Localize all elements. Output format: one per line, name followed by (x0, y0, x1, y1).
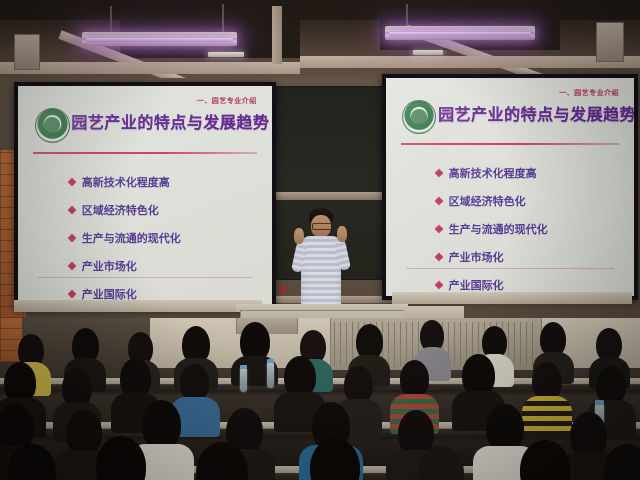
bullet-text: 生产与流通的现代化 (82, 230, 181, 246)
left-projection-screen[interactable]: 一、园艺专业介绍 园艺产业的特点与发展趋势 高新技术化程度高 区域经济特色化 生… (14, 82, 276, 309)
wall-speaker-right (596, 22, 624, 62)
hanging-wire-left2 (222, 4, 224, 34)
diamond-bullet-icon (434, 253, 442, 261)
right-projection-screen[interactable]: 一、园艺专业介绍 园艺产业的特点与发展趋势 高新技术化程度高 区域经济特色化 生… (382, 74, 638, 300)
audience-head (604, 444, 640, 480)
diamond-bullet-icon (68, 261, 76, 269)
audience-head (520, 440, 570, 480)
presenter-hand-left (294, 228, 304, 244)
water-bottle (240, 368, 247, 392)
bottle-cap (267, 359, 274, 363)
fluorescent-tube-small-right (413, 50, 443, 55)
ceiling-beam-horizontal-right (300, 56, 640, 68)
audience-torso-striped (522, 396, 572, 436)
bullet-item: 高新技术化程度高 (69, 174, 267, 190)
diamond-bullet-icon (434, 225, 442, 233)
audience-head (486, 404, 524, 452)
slide-title-right: 园艺产业的特点与发展趋势 (438, 101, 634, 125)
diamond-bullet-icon (68, 289, 76, 297)
bullet-text: 产业国际化 (449, 277, 504, 293)
bullet-text: 产业市场化 (82, 258, 137, 274)
audience-area (0, 318, 640, 480)
slide-bullets-left: 高新技术化程度高 区域经济特色化 生产与流通的现代化 产业市场化 产业国际化 (69, 174, 267, 302)
slide-bullets-right: 高新技术化程度高 区域经济特色化 生产与流通的现代化 产业市场化 产业国际化 (436, 165, 629, 293)
tube-glow-left (86, 38, 233, 42)
diamond-bullet-icon (434, 197, 442, 205)
ceiling-beam-horizontal-left (0, 62, 300, 74)
bullet-item: 产业市场化 (436, 249, 629, 265)
university-emblem-icon-right (402, 100, 436, 135)
slide-right: 一、园艺专业介绍 园艺产业的特点与发展趋势 高新技术化程度高 区域经济特色化 生… (386, 78, 634, 296)
hanging-wire-left (110, 6, 112, 32)
front-desk-left (14, 300, 262, 312)
bullet-text: 区域经济特色化 (82, 202, 159, 218)
chalk-rail-upper (262, 192, 390, 200)
bullet-item: 区域经济特色化 (436, 193, 629, 209)
presenter-hand-right (337, 226, 347, 242)
bottle-cap (595, 400, 604, 405)
wall-speaker-left (14, 34, 40, 70)
bullet-item: 区域经济特色化 (69, 202, 267, 218)
bullet-text: 区域经济特色化 (449, 193, 526, 209)
bullet-item: 产业国际化 (436, 277, 629, 293)
diamond-bullet-icon (68, 233, 76, 241)
slide-title-left: 园艺产业的特点与发展趋势 (71, 109, 269, 133)
diamond-bullet-icon (434, 169, 442, 177)
slide-left: 一、园艺专业介绍 园艺产业的特点与发展趋势 高新技术化程度高 区域经济特色化 生… (18, 86, 272, 305)
fluorescent-tube-left (82, 32, 237, 46)
slide-footer-rule-left (38, 277, 251, 278)
bullet-item: 高新技术化程度高 (436, 165, 629, 181)
lecture-hall-photo: 一、园艺专业介绍 园艺产业的特点与发展趋势 高新技术化程度高 区域经济特色化 生… (0, 0, 640, 480)
slide-header-right: 一、园艺专业介绍 (559, 88, 619, 98)
fluorescent-tube-right (385, 26, 535, 40)
bullet-text: 高新技术化程度高 (449, 165, 537, 181)
title-underline-left (33, 152, 257, 154)
audience-head (142, 400, 181, 450)
university-emblem-icon-left (35, 108, 70, 143)
bottle-cap (240, 365, 247, 369)
slide-header-left: 一、园艺专业介绍 (197, 96, 257, 106)
bullet-text: 生产与流通的现代化 (449, 221, 548, 237)
bullet-text: 高新技术化程度高 (82, 174, 170, 190)
ceiling-post-center (272, 6, 282, 64)
hanging-wire-right (406, 4, 408, 26)
water-bottle (267, 362, 274, 388)
audience-head (96, 436, 146, 480)
diamond-bullet-icon (434, 281, 442, 289)
audience-head (570, 412, 607, 459)
audience-head (400, 360, 429, 398)
bullet-item: 生产与流通的现代化 (436, 221, 629, 237)
diamond-bullet-icon (68, 205, 76, 213)
presenter-glasses (312, 223, 332, 230)
bullet-item: 生产与流通的现代化 (69, 230, 267, 246)
bullet-text: 产业市场化 (449, 249, 504, 265)
slide-footer-rule-right (406, 268, 614, 269)
indicator-light (280, 286, 286, 292)
fluorescent-tube-small-left (208, 52, 244, 57)
tube-glow-right (389, 32, 531, 36)
front-desk-right (392, 292, 632, 304)
diamond-bullet-icon (68, 177, 76, 185)
title-underline-right (401, 143, 619, 145)
bullet-item: 产业市场化 (69, 258, 267, 274)
